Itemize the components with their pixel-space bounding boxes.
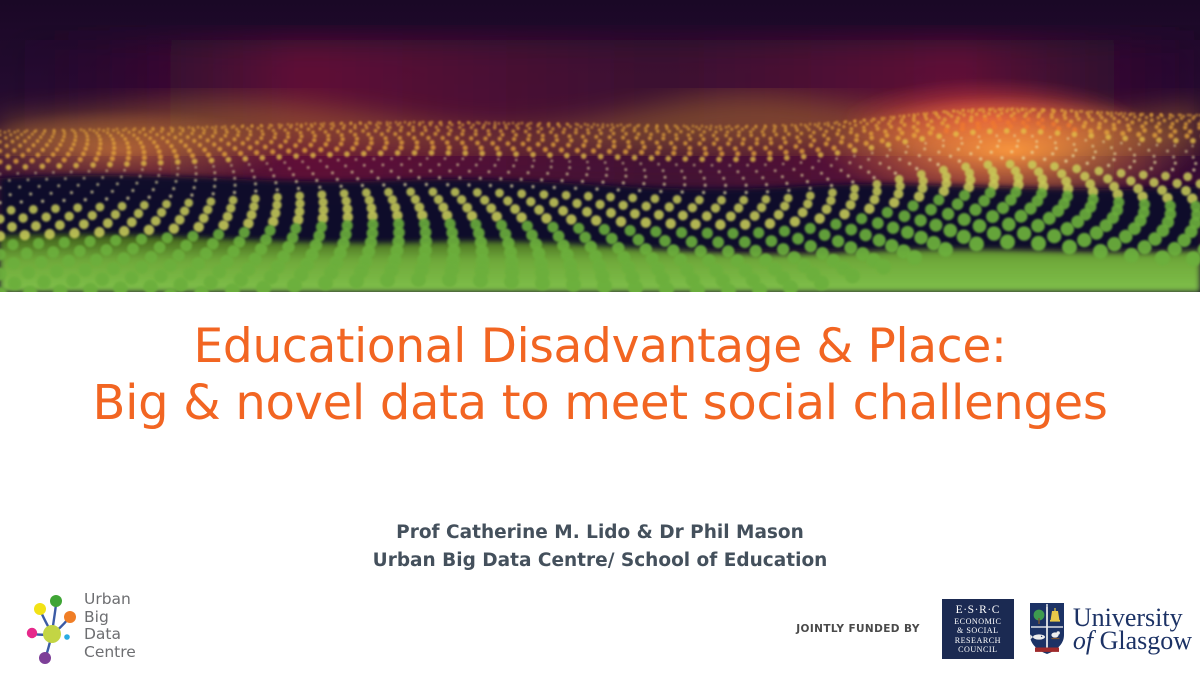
ubdc-node-green [50,595,62,607]
slide-subtitle: Prof Catherine M. Lido & Dr Phil Mason U… [0,519,1200,575]
title-line-2: Big & novel data to meet social challeng… [0,375,1200,432]
slide-root: Educational Disadvantage & Place: Big & … [0,0,1200,675]
glasgow-crest-icon [1028,601,1066,657]
glasgow-word-of-glasgow: of Glasgow [1073,629,1192,652]
esrc-line-council: COUNCIL [958,645,997,654]
esrc-line-research: RESEARCH [955,636,1001,645]
ubdc-word-urban: Urban [84,591,136,609]
esrc-line-economic: ECONOMIC [954,617,1001,626]
ubdc-word-centre: Centre [84,644,136,662]
ubdc-node-blue [64,634,70,640]
funders-row: JOINTLY FUNDED BY E·S·R·C ECONOMIC & SOC… [796,596,1192,662]
glasgow-word-of: of [1073,626,1093,655]
title-line-1: Educational Disadvantage & Place: [0,318,1200,375]
subtitle-affiliation: Urban Big Data Centre/ School of Educati… [0,547,1200,575]
jointly-funded-label: JOINTLY FUNDED BY [796,623,920,635]
ubdc-word-big: Big [84,609,136,627]
header-banner-image [0,0,1200,292]
ubdc-node-magenta [27,628,37,638]
ubdc-logo: Urban Big Data Centre [26,586,186,666]
ubdc-node-yellow [34,603,46,615]
ubdc-node-orange [64,611,76,623]
university-of-glasgow-logo: University of Glasgow [1028,601,1192,657]
glasgow-wordmark: University of Glasgow [1073,606,1192,652]
ubdc-wordmark: Urban Big Data Centre [84,591,136,661]
esrc-line-social: & SOCIAL [957,626,999,635]
ubdc-node-purple [39,652,51,664]
subtitle-authors: Prof Catherine M. Lido & Dr Phil Mason [0,519,1200,547]
ubdc-network-node-icon [26,588,78,664]
dot-wave-landscape-graphic [0,0,1200,292]
ubdc-word-data: Data [84,626,136,644]
esrc-acronym: E·S·R·C [956,604,1000,617]
ubdc-hub-node [43,625,61,643]
esrc-logo: E·S·R·C ECONOMIC & SOCIAL RESEARCH COUNC… [942,599,1014,659]
slide-title: Educational Disadvantage & Place: Big & … [0,318,1200,432]
glasgow-word-glasgow: Glasgow [1100,626,1192,655]
